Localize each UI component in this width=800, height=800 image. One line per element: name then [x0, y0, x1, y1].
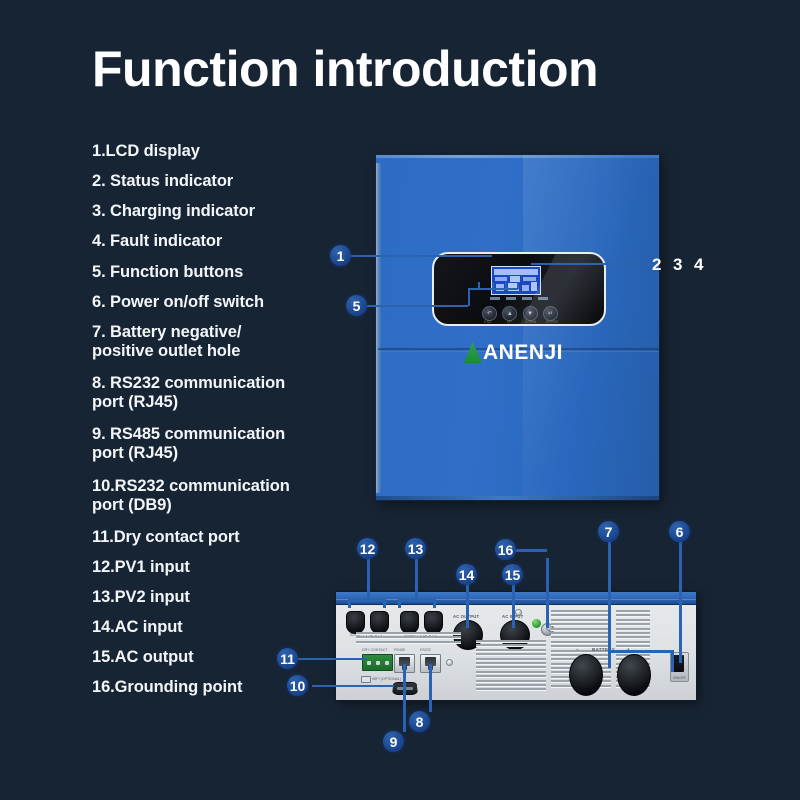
- callout-line-5b: [468, 288, 470, 306]
- vent-grille: [356, 632, 461, 644]
- list-item: 5. Function buttons: [92, 263, 337, 282]
- callout-line-234: [531, 263, 651, 265]
- list-item: 8. RS232 communication: [92, 374, 337, 393]
- list-item: 4. Fault indicator: [92, 232, 337, 251]
- button-label-esc: ESC: [479, 320, 497, 324]
- callout-14: 14: [456, 564, 477, 585]
- callout-2: 2: [652, 255, 661, 275]
- page-title: Function introduction: [92, 44, 598, 94]
- callout-16: 16: [495, 539, 516, 560]
- callout-line-12: [367, 557, 370, 601]
- callout-line-9: [403, 664, 406, 732]
- list-item: 12.PV1 input: [92, 558, 337, 577]
- list-item-cont: positive outlet hole: [92, 342, 337, 361]
- callout-1: 1: [330, 245, 351, 266]
- battery-terminal-positive[interactable]: [617, 654, 651, 696]
- diagram-canvas: Function introduction 1.LCD display 2. S…: [0, 0, 800, 800]
- list-item: 1.LCD display: [92, 142, 337, 161]
- callout-5: 5: [346, 295, 367, 316]
- rs232-label: RS232: [420, 648, 431, 652]
- callout-line-5a: [362, 305, 468, 307]
- list-item: 14.AC input: [92, 618, 337, 637]
- callout-line-13: [415, 557, 418, 601]
- button-enter[interactable]: ↵: [543, 306, 558, 321]
- pv2-input-group[interactable]: [400, 611, 443, 634]
- callout-line-11: [298, 658, 366, 660]
- list-item-cont: port (DB9): [92, 496, 337, 515]
- dry-contact-screw: [376, 661, 380, 665]
- callout-tick-5d: [517, 282, 519, 289]
- callout-line-1: [346, 255, 492, 257]
- callout-12: 12: [357, 538, 378, 559]
- power-switch-label: ON/OFF: [671, 676, 688, 680]
- callout-line-15: [512, 583, 515, 628]
- callout-3: 3: [673, 255, 682, 275]
- callout-bracket-12b: [383, 599, 386, 608]
- button-up-glyph: ▲: [507, 311, 513, 317]
- dry-contact-screw: [385, 661, 389, 665]
- function-buttons: ↶ ▲ ▼ ↵: [482, 306, 558, 321]
- callout-4: 4: [694, 255, 703, 275]
- brand-mark-icon: [464, 342, 482, 363]
- pv1-connector-negative[interactable]: [346, 611, 365, 634]
- callout-7: 7: [598, 521, 619, 542]
- list-item: 6. Power on/off switch: [92, 293, 337, 312]
- panel-screw: [446, 659, 453, 666]
- button-up[interactable]: ▲: [502, 306, 517, 321]
- list-item-cont: port (RJ45): [92, 444, 337, 463]
- callout-13: 13: [405, 538, 426, 559]
- callout-8: 8: [409, 711, 430, 732]
- list-item: 10.RS232 communication: [92, 477, 337, 496]
- callout-bracket-12a: [348, 599, 351, 608]
- feature-list: 1.LCD display 2. Status indicator 3. Cha…: [92, 142, 337, 709]
- callout-line-8: [429, 664, 432, 712]
- callout-tick-5a: [478, 282, 480, 289]
- callout-6: 6: [669, 521, 690, 542]
- list-item: 3. Charging indicator: [92, 202, 337, 221]
- list-item: 9. RS485 communication: [92, 425, 337, 444]
- callout-bracket-13b: [433, 599, 436, 608]
- dry-contact-label: DRY CONTACT: [362, 648, 388, 652]
- callout-line-7b: [608, 650, 673, 653]
- callout-line-7c: [671, 650, 674, 672]
- brand-name: ANENJI: [483, 342, 563, 363]
- callout-10: 10: [287, 675, 308, 696]
- inverter-front-view: ↶ ▲ ▼ ↵ ESC UP DOWN ENTER ANENJI: [376, 155, 659, 500]
- list-item: 13.PV2 input: [92, 588, 337, 607]
- button-esc-glyph: ↶: [487, 311, 492, 317]
- list-item: 7. Battery negative/: [92, 323, 337, 342]
- dry-contact-screw: [367, 661, 371, 665]
- callout-bracket-12: [348, 599, 386, 602]
- pv2-connector-positive[interactable]: [424, 611, 443, 634]
- pv2-connector-negative[interactable]: [400, 611, 419, 634]
- battery-negative-label: −: [576, 647, 579, 652]
- button-down[interactable]: ▼: [523, 306, 538, 321]
- list-item: 2. Status indicator: [92, 172, 337, 191]
- callout-line-16: [546, 558, 549, 628]
- callout-15: 15: [502, 564, 523, 585]
- brand-logo: ANENJI: [464, 342, 563, 363]
- callout-bracket-13: [398, 599, 436, 602]
- inverter-bottom-edge: [376, 496, 659, 500]
- inverter-left-edge: [376, 163, 381, 493]
- button-label-up: UP: [500, 320, 518, 324]
- callout-bracket-13a: [398, 599, 401, 608]
- callout-11: 11: [277, 648, 298, 669]
- callout-tick-5b: [492, 282, 494, 289]
- vent-grille: [476, 640, 546, 692]
- callout-line-10: [312, 685, 394, 687]
- inverter-top-edge: [376, 155, 659, 158]
- pv1-input-group[interactable]: [346, 611, 389, 634]
- status-indicator: [490, 297, 500, 300]
- list-item-cont: port (RJ45): [92, 393, 337, 412]
- button-label-down: DOWN: [522, 320, 540, 324]
- button-label-enter: ENTER: [543, 320, 561, 324]
- button-down-glyph: ▼: [527, 311, 533, 317]
- callout-line-6: [679, 541, 682, 663]
- battery-terminal-negative[interactable]: [569, 654, 603, 696]
- wifi-module-slot[interactable]: [361, 676, 371, 683]
- inverter-io-panel: SOLAR PV INPUT 1 SOLAR PV INPUT 2 AC OUT…: [336, 592, 696, 700]
- fault-indicator: [522, 297, 532, 300]
- db9-label: WIFI (OPTIONAL): [372, 677, 401, 681]
- button-enter-glyph: ↵: [548, 311, 553, 317]
- charging-indicator: [506, 297, 516, 300]
- mode-indicator: [538, 297, 548, 300]
- function-button-labels: ESC UP DOWN ENTER: [479, 320, 561, 324]
- dry-contact-port[interactable]: [362, 654, 393, 671]
- inverter-gloss: [523, 155, 659, 500]
- callout-tick-5c: [505, 282, 507, 289]
- callout-line-7: [608, 541, 611, 668]
- pv1-connector-positive[interactable]: [370, 611, 389, 634]
- status-indicator-row: [490, 296, 548, 301]
- indicator-led-green: [532, 619, 541, 628]
- callout-9: 9: [383, 731, 404, 752]
- lcd-display[interactable]: [491, 266, 541, 295]
- callout-line-14: [466, 583, 469, 628]
- io-panel-top-strip: [336, 592, 696, 605]
- button-esc[interactable]: ↶: [482, 306, 497, 321]
- rs485-label: RS485: [394, 648, 405, 652]
- list-item: 11.Dry contact port: [92, 528, 337, 547]
